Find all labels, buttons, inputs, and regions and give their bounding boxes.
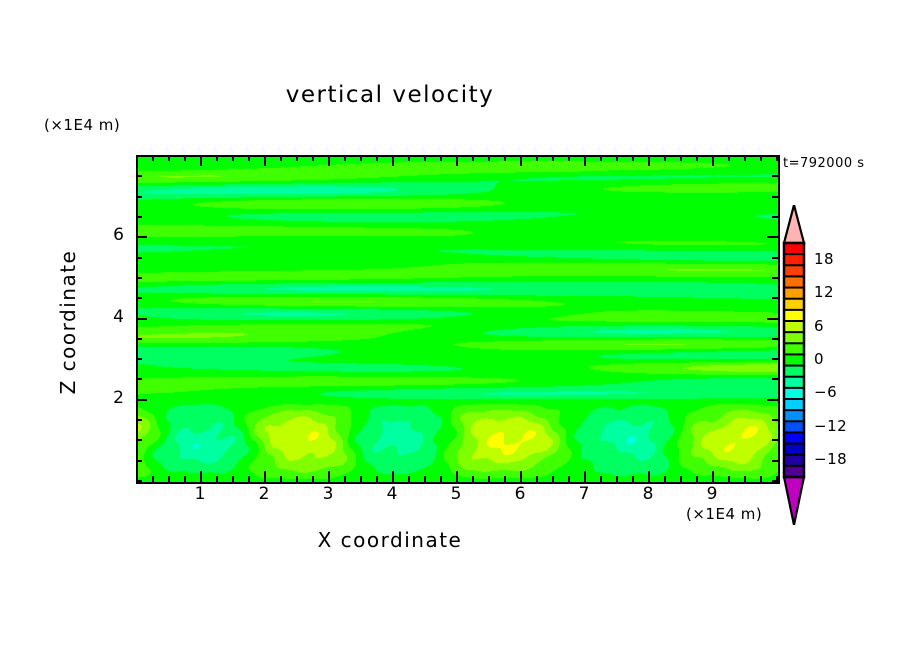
y-minor-tick [136,338,142,340]
x-minor-tick [152,476,154,482]
x-minor-tick-top [312,155,314,161]
y-minor-tick-right [772,419,778,421]
y-minor-tick-right [772,338,778,340]
x-minor-tick [552,476,554,482]
x-minor-tick [728,476,730,482]
y-minor-tick [136,480,142,482]
x-tick-label: 6 [505,484,535,504]
y-minor-tick [136,439,142,441]
y-major-tick [136,318,147,320]
y-axis-title: Z coordinate [56,212,80,432]
y-minor-tick-right [772,480,778,482]
y-minor-tick [136,297,142,299]
colorbar-band [784,432,804,444]
plot-area [136,155,780,484]
colorbar-band [784,466,804,478]
x-minor-tick [344,476,346,482]
x-minor-tick-top [472,155,474,161]
x-major-tick-top [200,155,202,166]
x-major-tick-top [520,155,522,166]
colorbar-band [784,265,804,277]
colorbar [781,205,807,525]
x-minor-tick-top [696,155,698,161]
colorbar-over-arrow [784,205,804,243]
x-minor-tick [184,476,186,482]
y-tick-label: 6 [98,225,124,245]
x-tick-label: 2 [249,484,279,504]
y-tick-label: 2 [98,388,124,408]
y-major-tick-right [767,236,778,238]
y-axis-unit-label: (×1E4 m) [44,116,120,134]
x-minor-tick-top [184,155,186,161]
x-minor-tick-top [152,155,154,161]
colorbar-tick-label: 6 [814,317,824,335]
y-major-tick-right [767,399,778,401]
colorbar-band [784,332,804,344]
colorbar-band [784,366,804,378]
x-minor-tick [472,476,474,482]
x-minor-tick [408,476,410,482]
x-minor-tick [232,476,234,482]
x-minor-tick-top [680,155,682,161]
y-minor-tick [136,257,142,259]
x-minor-tick [488,476,490,482]
x-major-tick [648,471,650,482]
colorbar-tick-label: −12 [814,417,847,435]
x-minor-tick-top [280,155,282,161]
colorbar-band [784,410,804,422]
x-minor-tick-top [168,155,170,161]
x-minor-tick-top [664,155,666,161]
y-minor-tick-right [772,358,778,360]
x-minor-tick [440,476,442,482]
x-minor-tick [616,476,618,482]
x-minor-tick [632,476,634,482]
x-major-tick-top [456,155,458,166]
x-tick-label: 9 [697,484,727,504]
y-minor-tick [136,216,142,218]
colorbar-svg [781,205,807,525]
x-axis-unit-label: (×1E4 m) [686,505,762,523]
x-minor-tick-top [360,155,362,161]
x-major-tick-top [392,155,394,166]
x-major-tick [520,471,522,482]
x-major-tick [712,471,714,482]
y-minor-tick [136,155,142,157]
y-minor-tick-right [772,155,778,157]
colorbar-band [784,377,804,389]
y-minor-tick [136,196,142,198]
colorbar-band [784,299,804,311]
x-minor-tick [760,476,762,482]
x-minor-tick-top [744,155,746,161]
x-minor-tick-top [216,155,218,161]
x-minor-tick-top [344,155,346,161]
y-minor-tick-right [772,439,778,441]
x-minor-tick-top [632,155,634,161]
y-minor-tick-right [772,277,778,279]
x-axis-title: X coordinate [0,528,780,552]
x-minor-tick [568,476,570,482]
x-minor-tick [600,476,602,482]
y-major-tick-right [767,318,778,320]
x-minor-tick-top [424,155,426,161]
x-tick-label: 1 [185,484,215,504]
x-minor-tick [216,476,218,482]
x-minor-tick [360,476,362,482]
x-major-tick [200,471,202,482]
x-major-tick [328,471,330,482]
x-major-tick-top [712,155,714,166]
contour-field-canvas [138,157,778,482]
y-minor-tick-right [772,216,778,218]
x-tick-label: 8 [633,484,663,504]
page-title: vertical velocity [0,82,780,108]
y-minor-tick [136,175,142,177]
x-minor-tick-top [232,155,234,161]
y-minor-tick-right [772,257,778,259]
x-minor-tick-top [600,155,602,161]
y-major-tick [136,399,147,401]
colorbar-tick-label: −18 [814,450,847,468]
x-minor-tick-top [440,155,442,161]
x-minor-tick [296,476,298,482]
x-major-tick [264,471,266,482]
x-minor-tick-top [376,155,378,161]
colorbar-band [784,254,804,266]
x-tick-label: 4 [377,484,407,504]
y-minor-tick-right [772,196,778,198]
x-minor-tick-top [488,155,490,161]
colorbar-tick-label: 0 [814,350,824,368]
x-minor-tick-top [616,155,618,161]
x-minor-tick-top [552,155,554,161]
y-minor-tick-right [772,378,778,380]
y-minor-tick [136,378,142,380]
colorbar-band [784,388,804,400]
y-major-tick [136,236,147,238]
colorbar-band [784,354,804,366]
colorbar-band [784,276,804,288]
x-minor-tick [424,476,426,482]
y-minor-tick-right [772,460,778,462]
x-major-tick-top [264,155,266,166]
x-minor-tick [696,476,698,482]
colorbar-band [784,321,804,333]
x-tick-label: 5 [441,484,471,504]
x-minor-tick [376,476,378,482]
y-minor-tick [136,277,142,279]
x-major-tick-top [648,155,650,166]
x-minor-tick-top [728,155,730,161]
x-minor-tick [664,476,666,482]
colorbar-band [784,288,804,300]
x-minor-tick [248,476,250,482]
y-tick-label: 4 [98,307,124,327]
x-minor-tick [168,476,170,482]
x-minor-tick-top [504,155,506,161]
colorbar-band [784,243,804,255]
x-minor-tick-top [296,155,298,161]
colorbar-under-arrow [784,477,804,525]
x-major-tick-top [328,155,330,166]
x-minor-tick-top [568,155,570,161]
colorbar-band [784,421,804,433]
x-minor-tick [312,476,314,482]
y-minor-tick [136,419,142,421]
colorbar-band [784,399,804,411]
colorbar-tick-label: −6 [814,383,837,401]
colorbar-band [784,455,804,467]
colorbar-band [784,444,804,456]
x-major-tick [584,471,586,482]
x-major-tick [456,471,458,482]
x-minor-tick [680,476,682,482]
colorbar-band [784,343,804,355]
colorbar-band [784,310,804,322]
x-minor-tick-top [536,155,538,161]
x-minor-tick [280,476,282,482]
x-major-tick [392,471,394,482]
x-tick-label: 3 [313,484,343,504]
x-major-tick-top [584,155,586,166]
x-minor-tick [536,476,538,482]
time-annotation: t=792000 s [783,156,865,171]
x-minor-tick-top [408,155,410,161]
x-minor-tick [744,476,746,482]
x-tick-label: 7 [569,484,599,504]
x-minor-tick-top [248,155,250,161]
y-minor-tick [136,358,142,360]
y-minor-tick-right [772,297,778,299]
x-minor-tick [504,476,506,482]
x-minor-tick-top [760,155,762,161]
y-minor-tick-right [772,175,778,177]
colorbar-tick-label: 12 [814,283,834,301]
y-minor-tick [136,460,142,462]
colorbar-tick-label: 18 [814,250,834,268]
